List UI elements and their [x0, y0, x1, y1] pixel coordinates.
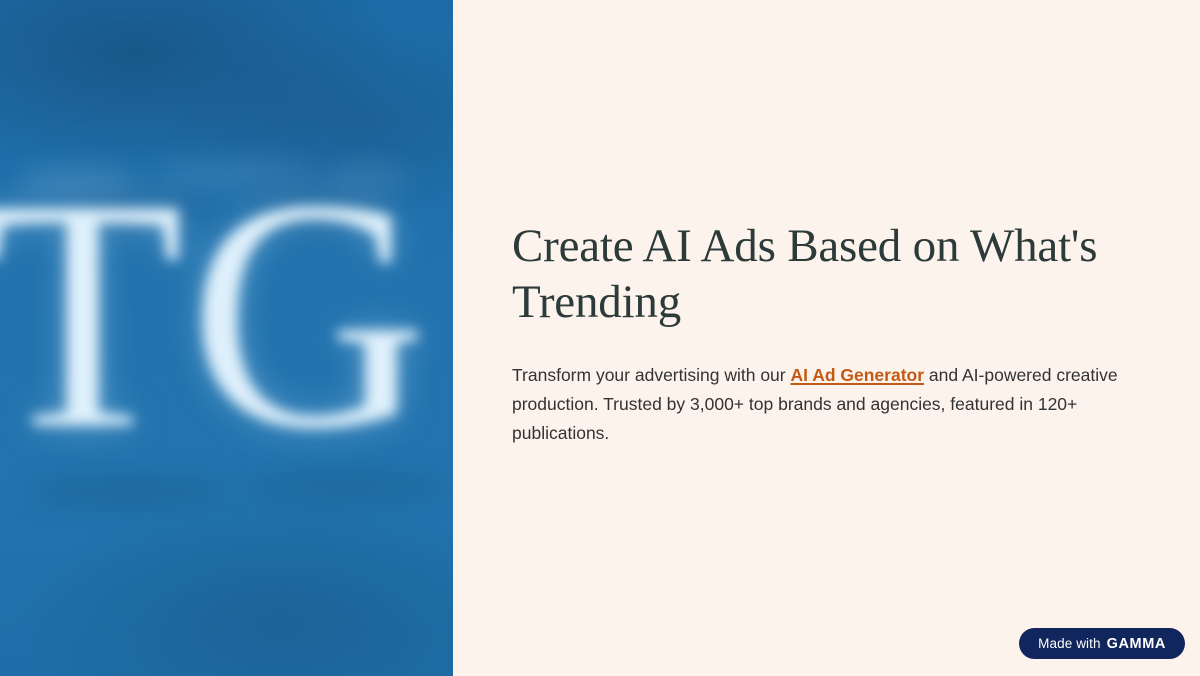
content-block: Create AI Ads Based on What's Trending T…	[512, 218, 1136, 448]
slide-container: TG TG Create AI Ads Based on What's Tren…	[0, 0, 1200, 676]
badge-gamma-logo: GAMMA	[1107, 636, 1166, 652]
page-title: Create AI Ads Based on What's Trending	[512, 218, 1136, 330]
hero-image-panel: TG TG	[0, 0, 453, 676]
blurred-letters: TG	[0, 150, 453, 480]
content-panel: Create AI Ads Based on What's Trending T…	[453, 0, 1200, 676]
made-with-gamma-badge[interactable]: Made with GAMMA	[1019, 628, 1185, 659]
body-paragraph: Transform your advertising with our AI A…	[512, 361, 1136, 448]
ai-ad-generator-link[interactable]: AI Ad Generator	[790, 365, 924, 385]
badge-made-with-label: Made with	[1038, 636, 1100, 651]
body-text-before-link: Transform your advertising with our	[512, 365, 790, 385]
